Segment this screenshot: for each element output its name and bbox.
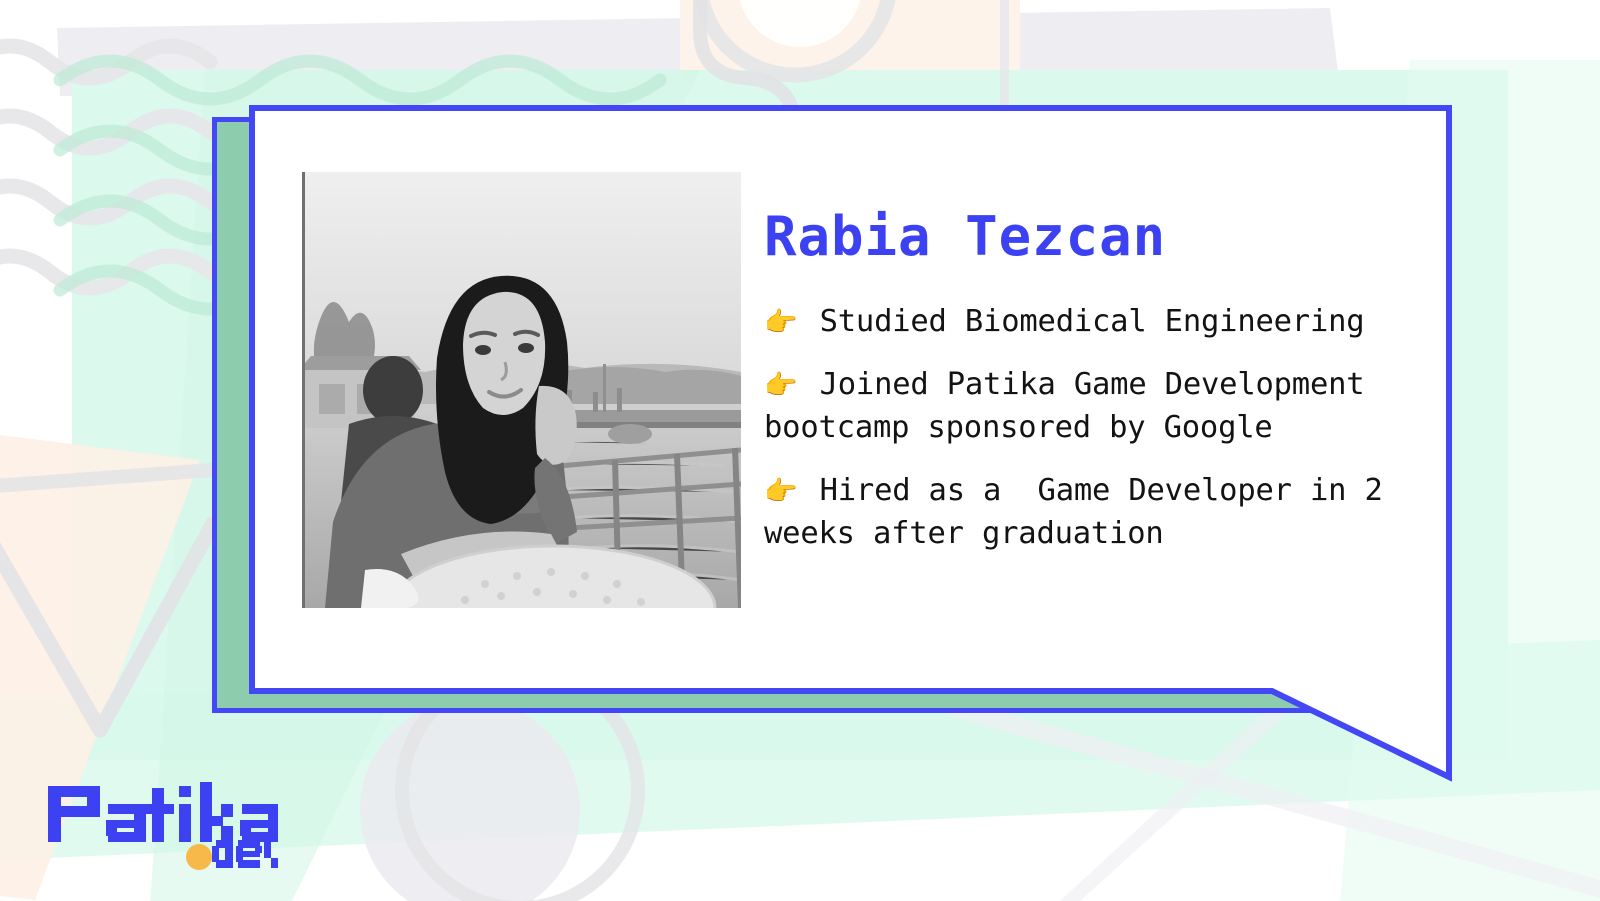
logo-wordmark-patika [48,782,278,842]
list-item: 👉 Hired as a Game Developer in 2 weeks a… [764,469,1434,556]
pointing-right-icon: 👉 [764,476,797,507]
card-content: Rabia Tezcan 👉 Studied Biomedical Engine… [249,105,1454,685]
pointing-right-icon: 👉 [764,370,797,401]
list-item-label: Studied Biomedical Engineering [801,304,1364,339]
list-item-label: Hired as a Game Developer in 2 weeks aft… [764,473,1401,552]
grey-slab-shape [57,8,1340,96]
peach-rounded-rect [680,0,1020,90]
page-title: Rabia Tezcan [764,210,1434,264]
list-item: 👉 Studied Biomedical Engineering [764,300,1434,344]
white-circle-top [738,0,862,47]
orange-dot-icon [186,844,212,870]
profile-photo [305,172,741,608]
patika-dev-logo[interactable] [48,778,278,873]
bio-block: Rabia Tezcan 👉 Studied Biomedical Engine… [764,210,1434,575]
grey-circle-outline-top [700,0,890,75]
list-item: 👉 Joined Patika Game Development bootcam… [764,363,1434,450]
grey-vertical-line [1000,0,1009,110]
wavy-lines-group [0,46,210,288]
grey-checkmark-line [0,520,215,730]
pointing-right-icon: 👉 [764,307,797,338]
list-item-label: Joined Patika Game Development bootcamp … [764,367,1383,446]
slide-canvas: Rabia Tezcan 👉 Studied Biomedical Engine… [0,0,1600,901]
